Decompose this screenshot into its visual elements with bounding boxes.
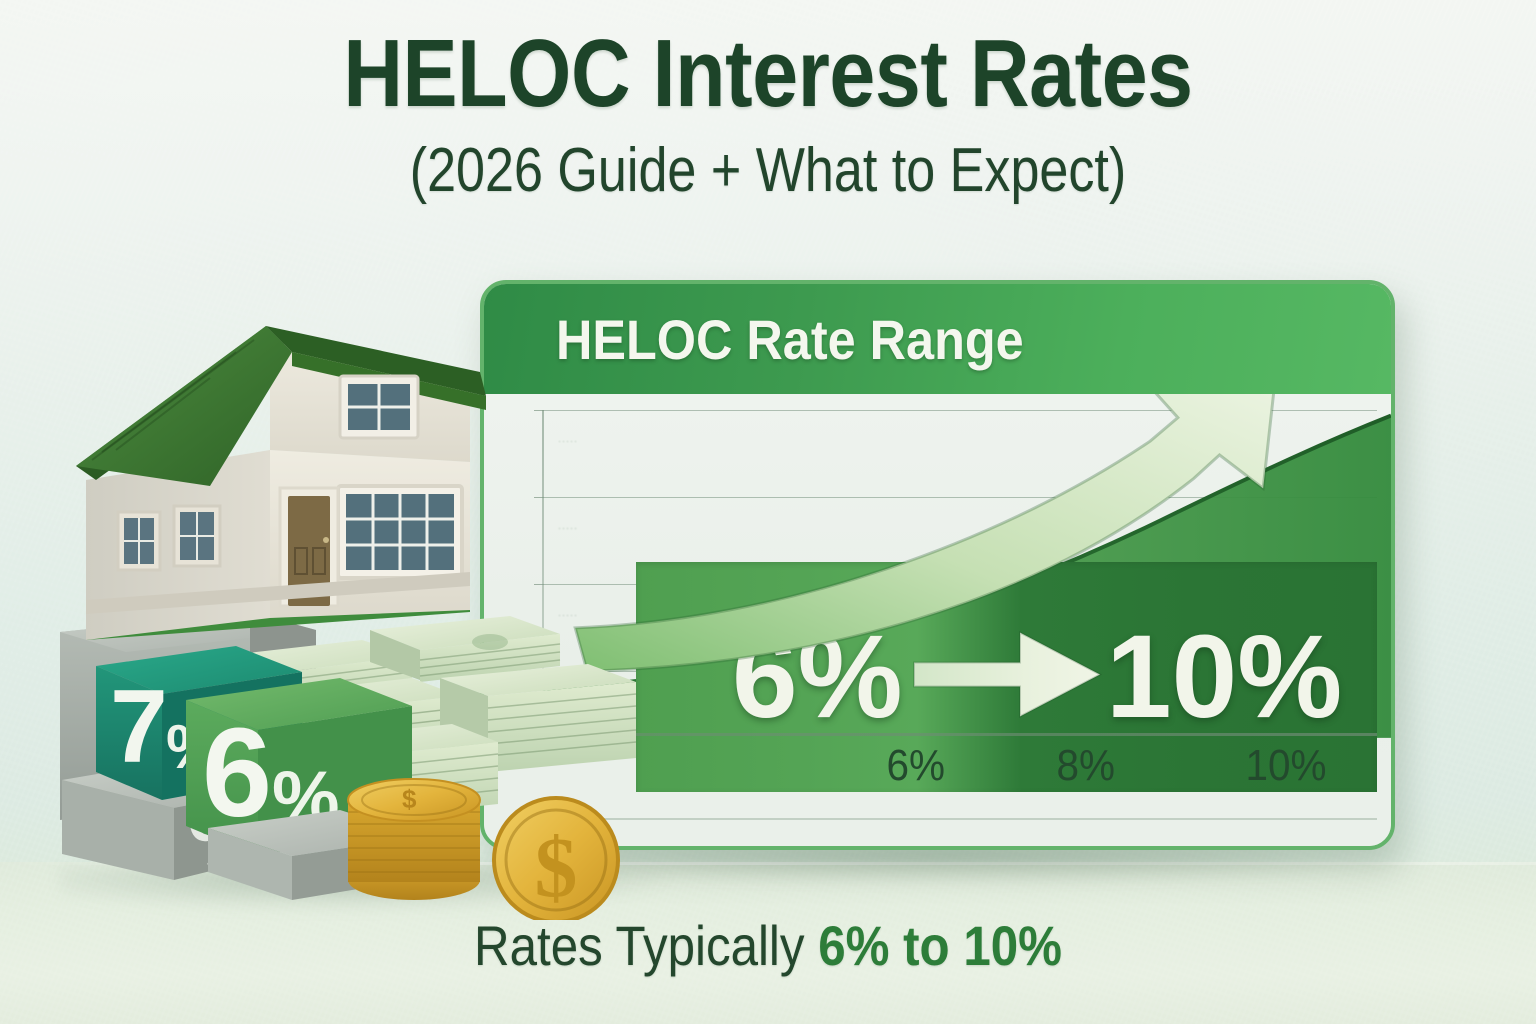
footer-caption: Rates Typically 6% to 10% bbox=[92, 918, 1444, 974]
svg-text:7: 7 bbox=[110, 669, 168, 785]
house-window-gable bbox=[340, 376, 418, 438]
range-low-value: 6% bbox=[732, 618, 903, 736]
page-subtitle: (2026 Guide + What to Expect) bbox=[123, 140, 1413, 202]
page-title: HELOC Interest Rates bbox=[108, 26, 1429, 122]
caption-accent: 6% to 10% bbox=[818, 914, 1062, 977]
infographic-canvas: HELOC Interest Rates (2026 Guide + What … bbox=[0, 0, 1536, 1024]
caption-lead: Rates Typically bbox=[474, 914, 818, 977]
svg-text:$: $ bbox=[535, 819, 578, 915]
house-3d bbox=[76, 326, 486, 640]
arrow-right-icon bbox=[912, 629, 1102, 726]
x-tick-label: 6% bbox=[887, 744, 946, 788]
range-high-value: 10% bbox=[1106, 618, 1342, 736]
illustration-group: % 7 % 6 % bbox=[40, 300, 700, 920]
house-window-front bbox=[338, 486, 462, 578]
x-tick-label: 10% bbox=[1246, 744, 1327, 788]
x-tick-label: 8% bbox=[1057, 744, 1116, 788]
svg-text:$: $ bbox=[402, 784, 417, 814]
gold-coin-upright: $ bbox=[494, 798, 618, 920]
headline-group: HELOC Interest Rates (2026 Guide + What … bbox=[0, 26, 1536, 202]
